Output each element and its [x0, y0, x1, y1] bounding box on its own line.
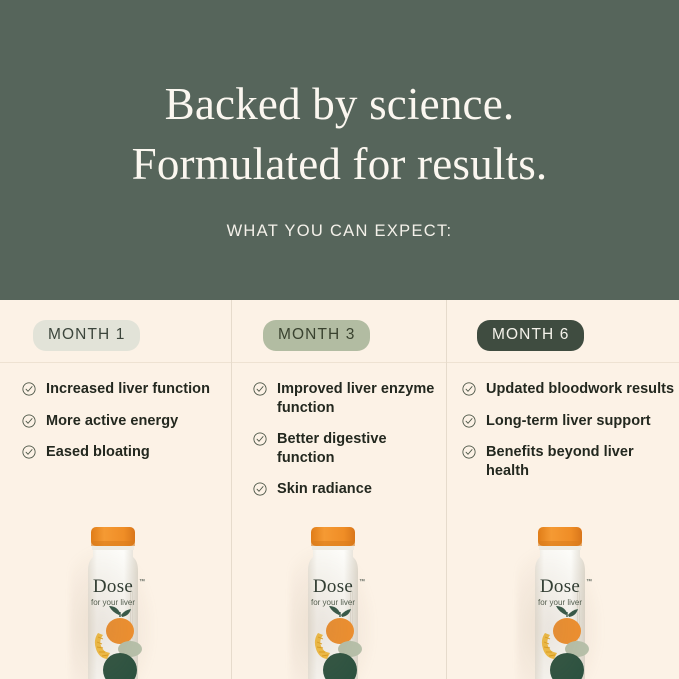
check-circle-icon	[462, 414, 476, 428]
list-item-label: Increased liver function	[46, 381, 210, 397]
page-title-line-1: Backed by science.	[165, 79, 515, 129]
product-bottle-month-6: Dose ™ for your liver	[515, 525, 605, 679]
month-badge-6[interactable]: MONTH 6	[477, 320, 584, 351]
list-item: Updated bloodwork results	[462, 380, 676, 399]
hero-banner: Backed by science. Formulated for result…	[0, 0, 679, 300]
list-item-label: Benefits beyond liver health	[486, 444, 634, 479]
list-item-label: Improved liver enzyme function	[277, 381, 434, 416]
timeline-column-month-1: MONTH 1 Increased liver function More ac…	[0, 300, 231, 679]
page-title-line-2: Formulated for results.	[0, 134, 679, 194]
month-badge-1[interactable]: MONTH 1	[33, 320, 140, 351]
timeline-board: MONTH 1 Increased liver function More ac…	[0, 300, 679, 679]
list-item-label: Long-term liver support	[486, 413, 651, 429]
check-circle-icon	[22, 382, 36, 396]
benefit-list-month-1: Increased liver function More active ene…	[22, 380, 218, 475]
bottle-shadow	[517, 545, 603, 679]
bottle-shadow	[290, 545, 376, 679]
benefit-list-month-6: Updated bloodwork results Long-term live…	[462, 380, 676, 493]
list-item-label: More active energy	[46, 413, 178, 429]
promo-infographic: Backed by science. Formulated for result…	[0, 0, 679, 679]
list-item: Benefits beyond liver health	[462, 443, 676, 480]
list-item: Skin radiance	[253, 480, 439, 499]
check-circle-icon	[253, 482, 267, 496]
timeline-column-month-6: MONTH 6 Updated bloodwork results Long-t…	[447, 300, 679, 679]
list-item: More active energy	[22, 412, 218, 431]
list-item: Eased bloating	[22, 443, 218, 462]
list-item-label: Better digestive function	[277, 431, 387, 466]
check-circle-icon	[462, 382, 476, 396]
page-subtitle: WHAT YOU CAN EXPECT:	[0, 222, 679, 241]
list-item: Better digestive function	[253, 430, 439, 467]
check-circle-icon	[253, 432, 267, 446]
list-item-label: Updated bloodwork results	[486, 381, 674, 397]
check-circle-icon	[22, 445, 36, 459]
list-item: Improved liver enzyme function	[253, 380, 439, 417]
list-item: Increased liver function	[22, 380, 218, 399]
timeline-column-month-3: MONTH 3 Improved liver enzyme function B…	[232, 300, 446, 679]
benefit-list-month-3: Improved liver enzyme function Better di…	[253, 380, 439, 512]
product-bottle-month-3: Dose ™ for your liver	[288, 525, 378, 679]
check-circle-icon	[22, 414, 36, 428]
bottle-shadow	[70, 545, 156, 679]
check-circle-icon	[253, 382, 267, 396]
check-circle-icon	[462, 445, 476, 459]
page-title: Backed by science. Formulated for result…	[0, 74, 679, 194]
list-item-label: Eased bloating	[46, 444, 150, 460]
product-bottle-month-1: Dose ™ for your liver	[68, 525, 158, 679]
month-badge-3[interactable]: MONTH 3	[263, 320, 370, 351]
list-item-label: Skin radiance	[277, 481, 372, 497]
list-item: Long-term liver support	[462, 412, 676, 431]
